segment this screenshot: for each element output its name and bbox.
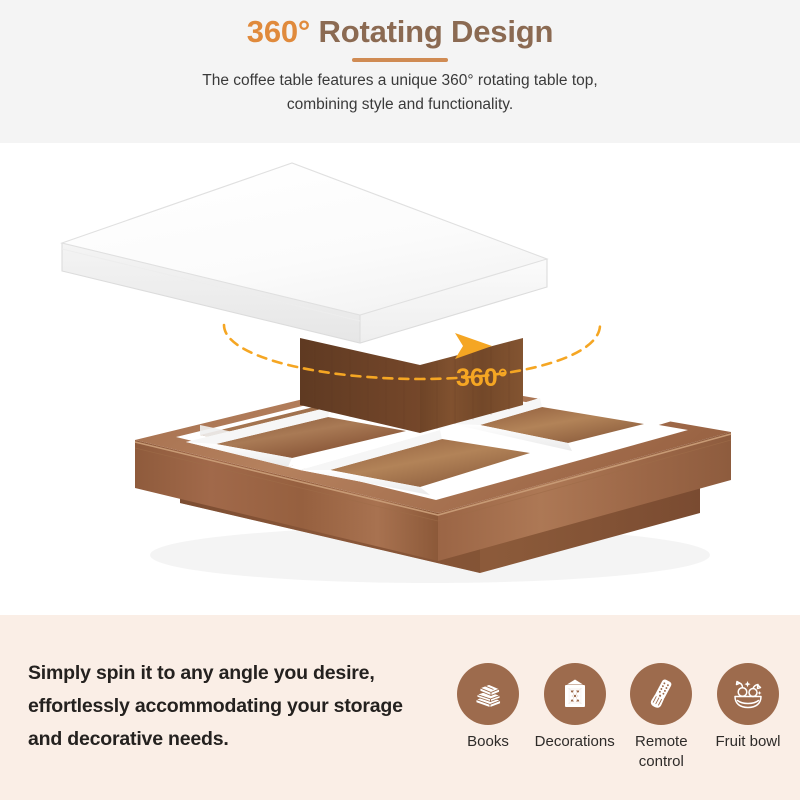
white-table-top: [62, 163, 547, 343]
title-divider: [352, 58, 448, 62]
header-section: 360° Rotating Design The coffee table fe…: [0, 0, 800, 143]
footer-section: Simply spin it to any angle you desire, …: [0, 615, 800, 800]
remote-control-label: Remote: [621, 732, 701, 752]
books-icon: [470, 676, 506, 712]
picture-frame-icon: [557, 676, 593, 712]
use-case-remote-control[interactable]: Remote control: [621, 663, 701, 772]
remote-control-label-line-2: control: [621, 752, 701, 772]
footer-headline-line-2: effortlessly accommodating your storage: [28, 690, 428, 723]
product-infographic-page: 360° Rotating Design The coffee table fe…: [0, 0, 800, 800]
fruit-bowl-label: Fruit bowl: [708, 732, 788, 752]
coffee-table-illustration: 360°: [0, 143, 800, 615]
subtitle-line-1: The coffee table features a unique 360° …: [0, 69, 800, 93]
use-case-icon-row: Books: [448, 663, 788, 772]
footer-headline-line-1: Simply spin it to any angle you desire,: [28, 657, 428, 690]
footer-headline: Simply spin it to any angle you desire, …: [28, 657, 428, 756]
picture-frame-icon-circle[interactable]: [544, 663, 606, 725]
title-highlight: 360°: [247, 14, 310, 49]
fruit-bowl-icon-circle[interactable]: [717, 663, 779, 725]
books-label: Books: [448, 732, 528, 752]
decorations-label: Decorations: [535, 732, 615, 752]
remote-control-icon-circle[interactable]: [630, 663, 692, 725]
title-rest: Rotating Design: [310, 14, 553, 49]
use-case-decorations[interactable]: Decorations: [535, 663, 615, 752]
remote-control-icon: [643, 676, 679, 712]
subtitle-line-2: combining style and functionality.: [0, 93, 800, 117]
books-icon-circle[interactable]: [457, 663, 519, 725]
rotation-badge-label: 360°: [456, 364, 508, 392]
footer-headline-line-3: and decorative needs.: [28, 723, 428, 756]
page-title: 360° Rotating Design: [0, 10, 800, 54]
fruit-bowl-icon: [730, 676, 766, 712]
use-case-books[interactable]: Books: [448, 663, 528, 752]
use-case-fruit-bowl[interactable]: Fruit bowl: [708, 663, 788, 752]
product-image-section: 360°: [0, 143, 800, 615]
